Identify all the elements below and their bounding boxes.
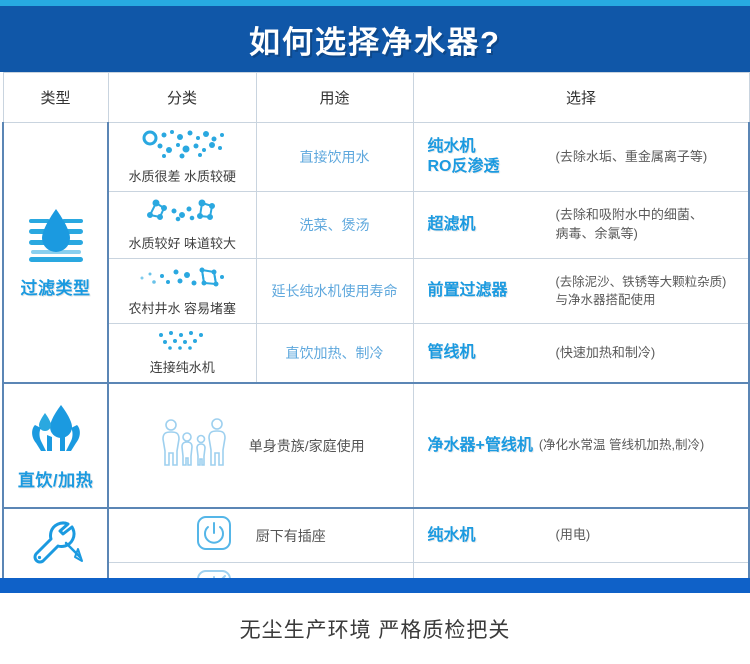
select-name: 前置过滤器: [428, 281, 556, 301]
hands-water-drop-icon: [6, 401, 105, 462]
select-name: 超滤机: [428, 215, 556, 235]
class-cell: 水质很差 水质较硬: [108, 123, 256, 192]
molecules-particles-icon: [113, 264, 252, 297]
footer-text: 无尘生产环境 严格质检把关: [240, 614, 511, 644]
usage-cell: 洗菜、煲汤: [256, 192, 413, 259]
table-row: 直饮/加热: [3, 383, 749, 508]
usage-cell: 直饮加热、制冷: [256, 324, 413, 384]
type-cell-filter: 过滤类型: [3, 123, 108, 384]
table-row: 安装类型 厨下有插座: [3, 508, 749, 563]
page-footer: 无尘生产环境 严格质检把关: [0, 593, 750, 664]
family-label: 单身贵族/家庭使用: [249, 436, 365, 456]
page-header: 如何选择净水器?: [0, 6, 750, 72]
water-drop-filter-icon: [6, 207, 105, 270]
class-cell: 农村井水 容易堵塞: [108, 259, 256, 324]
molecules-medium-icon: [113, 197, 252, 232]
select-cell: 净水器+管线机 (净化水常温 管线机加热,制冷): [413, 383, 749, 508]
table-row: 农村井水 容易堵塞 延长纯水机使用寿命 前置过滤器 (去除泥沙、铁锈等大颗粒杂质…: [3, 259, 749, 324]
type-label-direct-drink: 直饮/加热: [18, 471, 93, 490]
class-cell: 连接纯水机: [108, 324, 256, 384]
class-label: 连接纯水机: [150, 360, 215, 375]
select-name: 纯水机 RO反渗透: [428, 137, 556, 177]
type-label-filter: 过滤类型: [21, 279, 91, 298]
bottom-accent-strip: [0, 578, 750, 593]
column-header-select: 选择: [413, 73, 749, 123]
install-label: 厨下有插座: [256, 526, 326, 546]
page-title: 如何选择净水器?: [249, 17, 501, 62]
column-header-type: 类型: [3, 73, 108, 123]
table-row: 连接纯水机 直饮加热、制冷 管线机 (快速加热和制冷): [3, 324, 749, 384]
class-label: 水质很差 水质较硬: [128, 169, 236, 184]
table-row: 水质较好 味道较大 洗菜、煲汤 超滤机 (去除和吸附水中的细菌、 病毒、余氯等): [3, 192, 749, 259]
column-header-class: 分类: [108, 73, 256, 123]
class-cell: 水质较好 味道较大: [108, 192, 256, 259]
select-desc: (去除水垢、重金属离子等): [556, 148, 708, 167]
select-cell: 超滤机 (去除和吸附水中的细菌、 病毒、余氯等): [413, 192, 749, 259]
select-desc: (去除和吸附水中的细菌、 病毒、余氯等): [556, 206, 703, 244]
table-header-row: 类型 分类 用途 选择: [3, 73, 749, 123]
class-label: 农村井水 容易堵塞: [128, 301, 236, 316]
comparison-table-wrapper: 类型 分类 用途 选择: [0, 72, 750, 617]
select-cell: 纯水机 RO反渗透 (去除水垢、重金属离子等): [413, 123, 749, 192]
power-socket-icon: [196, 515, 232, 556]
type-cell-direct-drink: 直饮/加热: [3, 383, 108, 508]
molecules-sparse-icon: [113, 329, 252, 356]
molecules-dense-icon: [113, 128, 252, 165]
usage-cell: 延长纯水机使用寿命: [256, 259, 413, 324]
comparison-table: 类型 分类 用途 选择: [2, 72, 750, 617]
usage-cell: 直接饮用水: [256, 123, 413, 192]
select-name: 管线机: [428, 343, 556, 363]
class-cell-socket: 厨下有插座: [108, 508, 413, 563]
select-cell: 前置过滤器 (去除泥沙、铁锈等大颗粒杂质) 与净水器搭配使用: [413, 259, 749, 324]
select-cell: 管线机 (快速加热和制冷): [413, 324, 749, 384]
table-row: 过滤类型: [3, 123, 749, 192]
select-desc: (用电): [556, 526, 591, 545]
select-desc: (快速加热和制冷): [556, 344, 656, 363]
class-label: 水质较好 味道较大: [128, 236, 236, 251]
family-people-icon: [157, 417, 231, 474]
column-header-usage: 用途: [256, 73, 413, 123]
select-name: 纯水机: [428, 526, 556, 546]
select-desc: (净化水常温 管线机加热,制冷): [539, 436, 704, 454]
wrench-icon: [6, 521, 105, 576]
select-name: 净水器+管线机: [428, 436, 533, 456]
select-desc: (去除泥沙、铁锈等大颗粒杂质) 与净水器搭配使用: [556, 273, 727, 309]
infographic-page: 如何选择净水器? 类型 分类 用途 选择: [0, 0, 750, 664]
class-cell-family: 单身贵族/家庭使用: [108, 383, 413, 508]
select-cell: 纯水机 (用电): [413, 508, 749, 563]
